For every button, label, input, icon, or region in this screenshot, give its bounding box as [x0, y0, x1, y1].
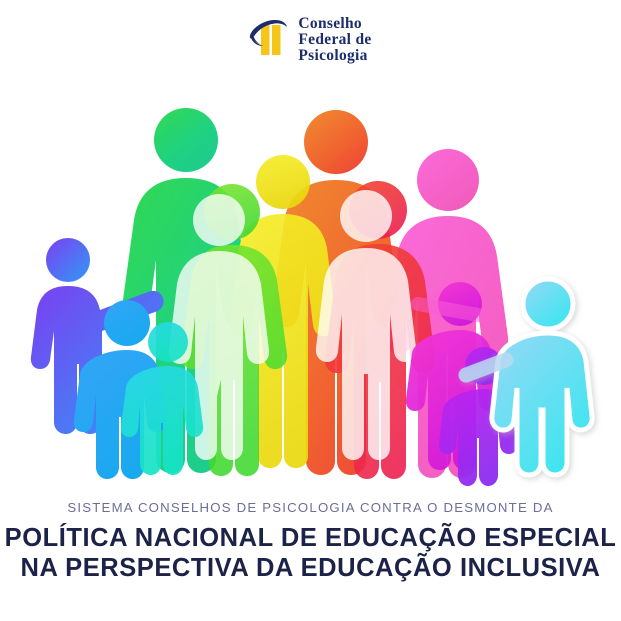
cfp-logo: Conselho Federal de Psicologia	[0, 16, 621, 63]
poster-eyebrow: SISTEMA CONSELHOS DE PSICOLOGIA CONTRA O…	[0, 500, 621, 517]
logo-line-1: Conselho	[298, 16, 371, 32]
poster-text-block: SISTEMA CONSELHOS DE PSICOLOGIA CONTRA O…	[0, 500, 621, 584]
cfp-logo-mark	[249, 17, 289, 63]
logo-line-3: Psicologia	[298, 48, 371, 64]
cfp-logo-wordmark: Conselho Federal de Psicologia	[298, 16, 371, 63]
poster-headline-line-1: POLÍTICA NACIONAL DE EDUCAÇÃO ESPECIAL	[0, 524, 621, 554]
poster-canvas: Conselho Federal de Psicologia	[0, 0, 621, 621]
logo-line-2: Federal de	[298, 32, 371, 48]
poster-headline-line-2: NA PERSPECTIVA DA EDUCAÇÃO INCLUSIVA	[0, 554, 621, 584]
rainbow-people-illustration	[18, 92, 603, 487]
